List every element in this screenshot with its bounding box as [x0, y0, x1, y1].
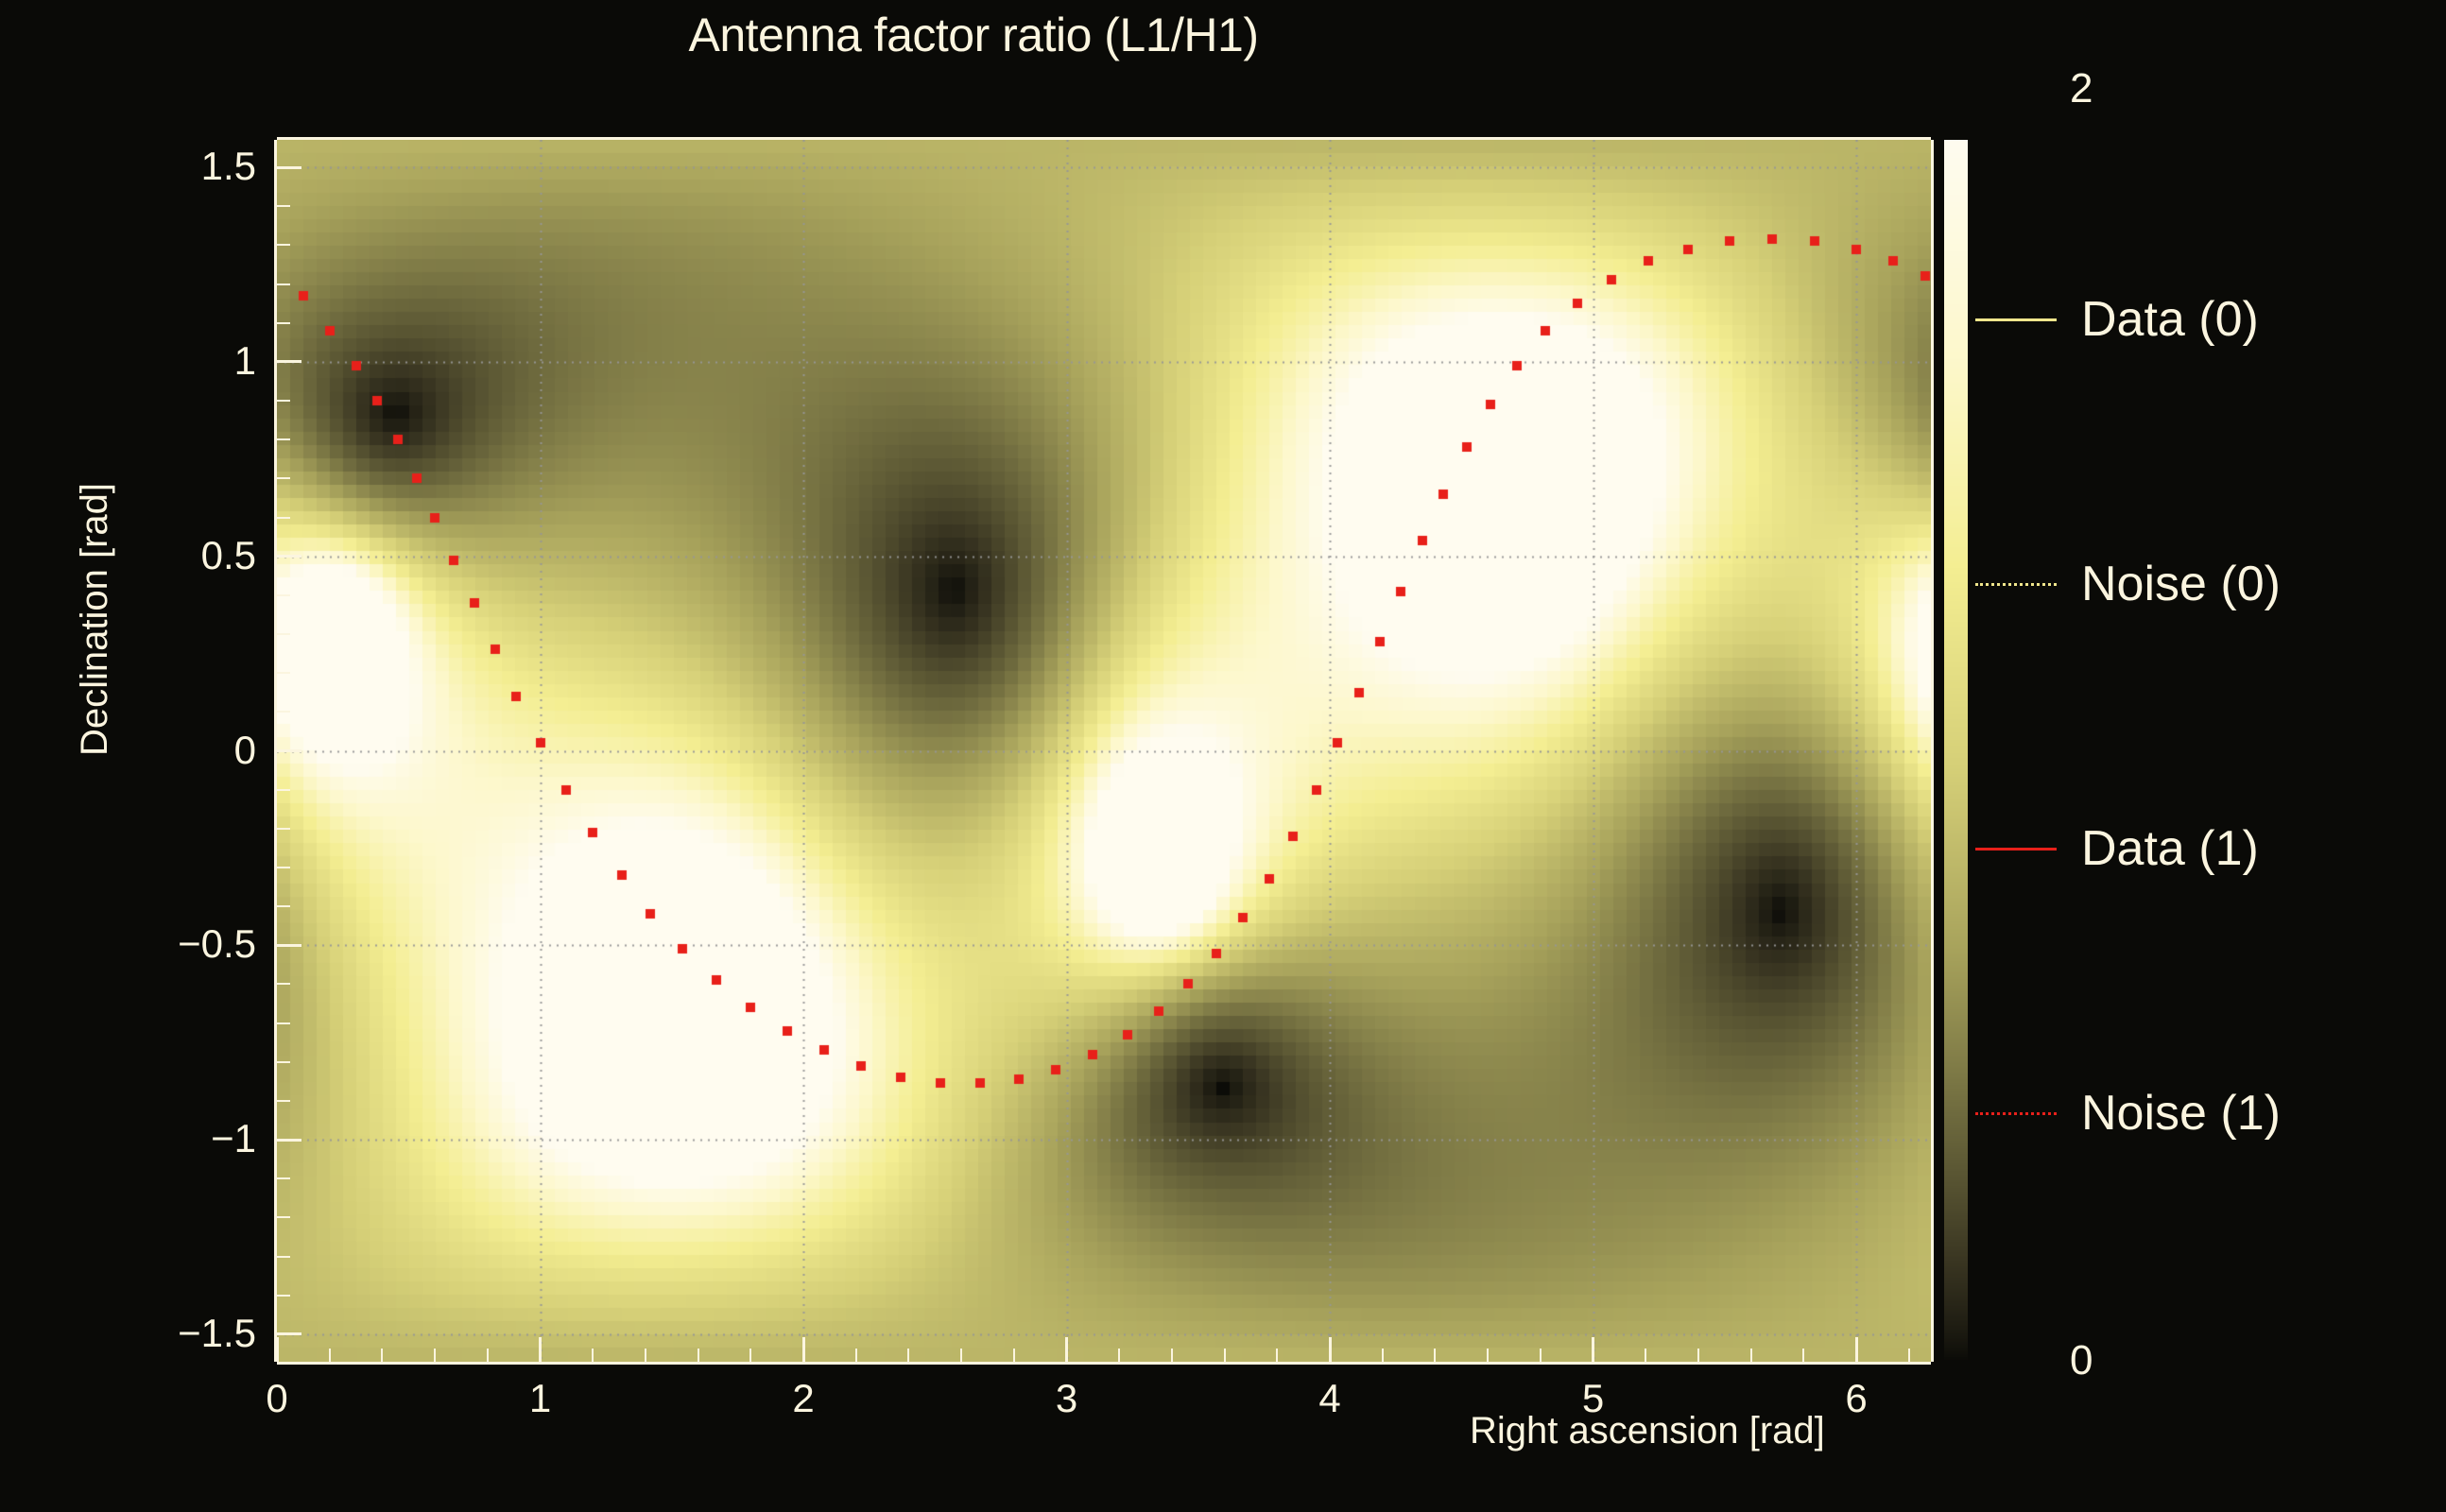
x-tick-minor [1171, 1349, 1173, 1362]
x-tick-minor [1750, 1349, 1752, 1362]
colorbar-max-label: 2 [2070, 68, 2093, 110]
x-tick-minor [960, 1349, 962, 1362]
y-tick-minor [277, 322, 290, 324]
x-tick-minor [749, 1349, 751, 1362]
x-tick-minor [434, 1349, 436, 1362]
y-tick-label: −1 [211, 1119, 256, 1159]
colorbar-gradient [1944, 140, 1968, 1362]
page-title: Antenna factor ratio (L1/H1) [0, 8, 1947, 62]
y-axis-title: Declination [rad] [74, 483, 116, 756]
x-tick-minor [1487, 1349, 1489, 1362]
x-tick-minor [1645, 1349, 1646, 1362]
legend-noise-1[interactable]: Noise (1) [1975, 1075, 2281, 1151]
x-tick-major [539, 1337, 542, 1362]
legend-label: Noise (1) [2081, 1089, 2281, 1138]
legend-line-swatch [1975, 583, 2057, 586]
y-tick-label: 1 [234, 341, 256, 381]
y-tick-minor [277, 205, 290, 207]
y-tick-major [277, 166, 301, 169]
x-tick-minor [381, 1349, 383, 1362]
legend-noise-0[interactable]: Noise (0) [1975, 546, 2281, 622]
y-tick-label: 1.5 [201, 146, 256, 186]
y-tick-major [277, 555, 301, 558]
y-tick-minor [277, 905, 290, 907]
y-tick-minor [277, 789, 290, 791]
x-tick-label: 3 [1010, 1379, 1124, 1418]
x-tick-label: 0 [220, 1379, 334, 1418]
x-tick-minor [1697, 1349, 1699, 1362]
y-tick-minor [277, 1216, 290, 1218]
y-tick-minor [277, 867, 290, 868]
y-tick-minor [277, 1061, 290, 1063]
x-tick-major [276, 1337, 279, 1362]
y-tick-label: −0.5 [178, 924, 256, 964]
x-axis-line [277, 1362, 1931, 1365]
legend-line-swatch [1975, 318, 2057, 321]
x-tick-major [1592, 1337, 1594, 1362]
x-tick-minor [592, 1349, 594, 1362]
x-tick-minor [855, 1349, 857, 1362]
x-tick-major [1065, 1337, 1068, 1362]
y-tick-minor [277, 711, 290, 713]
y-tick-minor [277, 1022, 290, 1024]
x-axis-title: Right ascension [rad] [1470, 1410, 1825, 1452]
x-tick-major [1329, 1337, 1332, 1362]
y-tick-major [277, 1139, 301, 1142]
x-tick-minor [329, 1349, 331, 1362]
y-tick-minor [277, 477, 290, 479]
y-tick-major [277, 1332, 301, 1335]
x-tick-minor [1382, 1349, 1384, 1362]
plot-top-border [277, 137, 1931, 140]
legend-label: Noise (0) [2081, 559, 2281, 609]
y-tick-minor [277, 1177, 290, 1179]
y-tick-major [277, 360, 301, 363]
x-tick-minor [487, 1349, 489, 1362]
x-tick-label: 2 [747, 1379, 860, 1418]
y-tick-minor [277, 672, 290, 674]
x-tick-minor [1276, 1349, 1278, 1362]
legend-line-swatch [1975, 848, 2057, 850]
x-tick-label: 4 [1273, 1379, 1387, 1418]
y-tick-minor [277, 983, 290, 985]
x-tick-minor [907, 1349, 909, 1362]
y-tick-label: −1.5 [178, 1314, 256, 1353]
plot-canvas-root: Antenna factor ratio (L1/H1) −1.5−1−0.50… [0, 0, 2446, 1512]
y-tick-minor [277, 283, 290, 285]
y-tick-minor [277, 438, 290, 440]
y-tick-minor [277, 244, 290, 246]
legend-data-0[interactable]: Data (0) [1975, 282, 2259, 357]
y-tick-minor [277, 1100, 290, 1102]
y-tick-label: 0.5 [201, 536, 256, 576]
x-tick-minor [1908, 1349, 1910, 1362]
y-tick-label: 0 [234, 730, 256, 770]
legend-label: Data (1) [2081, 824, 2259, 873]
y-tick-major [277, 749, 301, 752]
x-tick-minor [1434, 1349, 1436, 1362]
plot-right-border [1931, 140, 1934, 1362]
y-tick-minor [277, 594, 290, 596]
legend: Data (0)Noise (0)Data (1)Noise (1) [1975, 140, 2420, 1362]
colorbar [1944, 140, 1968, 1362]
x-tick-minor [698, 1349, 699, 1362]
y-tick-major [277, 944, 301, 947]
x-tick-minor [1013, 1349, 1015, 1362]
y-tick-minor [277, 1295, 290, 1297]
y-tick-minor [277, 633, 290, 635]
x-tick-minor [1224, 1349, 1226, 1362]
heatmap-plot-area [277, 140, 1931, 1362]
x-tick-label: 1 [484, 1379, 597, 1418]
x-tick-minor [645, 1349, 646, 1362]
x-tick-major [1855, 1337, 1858, 1362]
x-tick-major [802, 1337, 805, 1362]
y-tick-minor [277, 828, 290, 830]
antenna-factor-heatmap [277, 140, 1931, 1362]
x-tick-minor [1118, 1349, 1120, 1362]
x-tick-minor [1802, 1349, 1804, 1362]
y-tick-minor [277, 1256, 290, 1258]
x-tick-minor [1540, 1349, 1542, 1362]
legend-label: Data (0) [2081, 295, 2259, 344]
y-tick-minor [277, 400, 290, 402]
y-tick-minor [277, 517, 290, 519]
legend-data-1[interactable]: Data (1) [1975, 811, 2259, 886]
legend-line-swatch [1975, 1112, 2057, 1115]
